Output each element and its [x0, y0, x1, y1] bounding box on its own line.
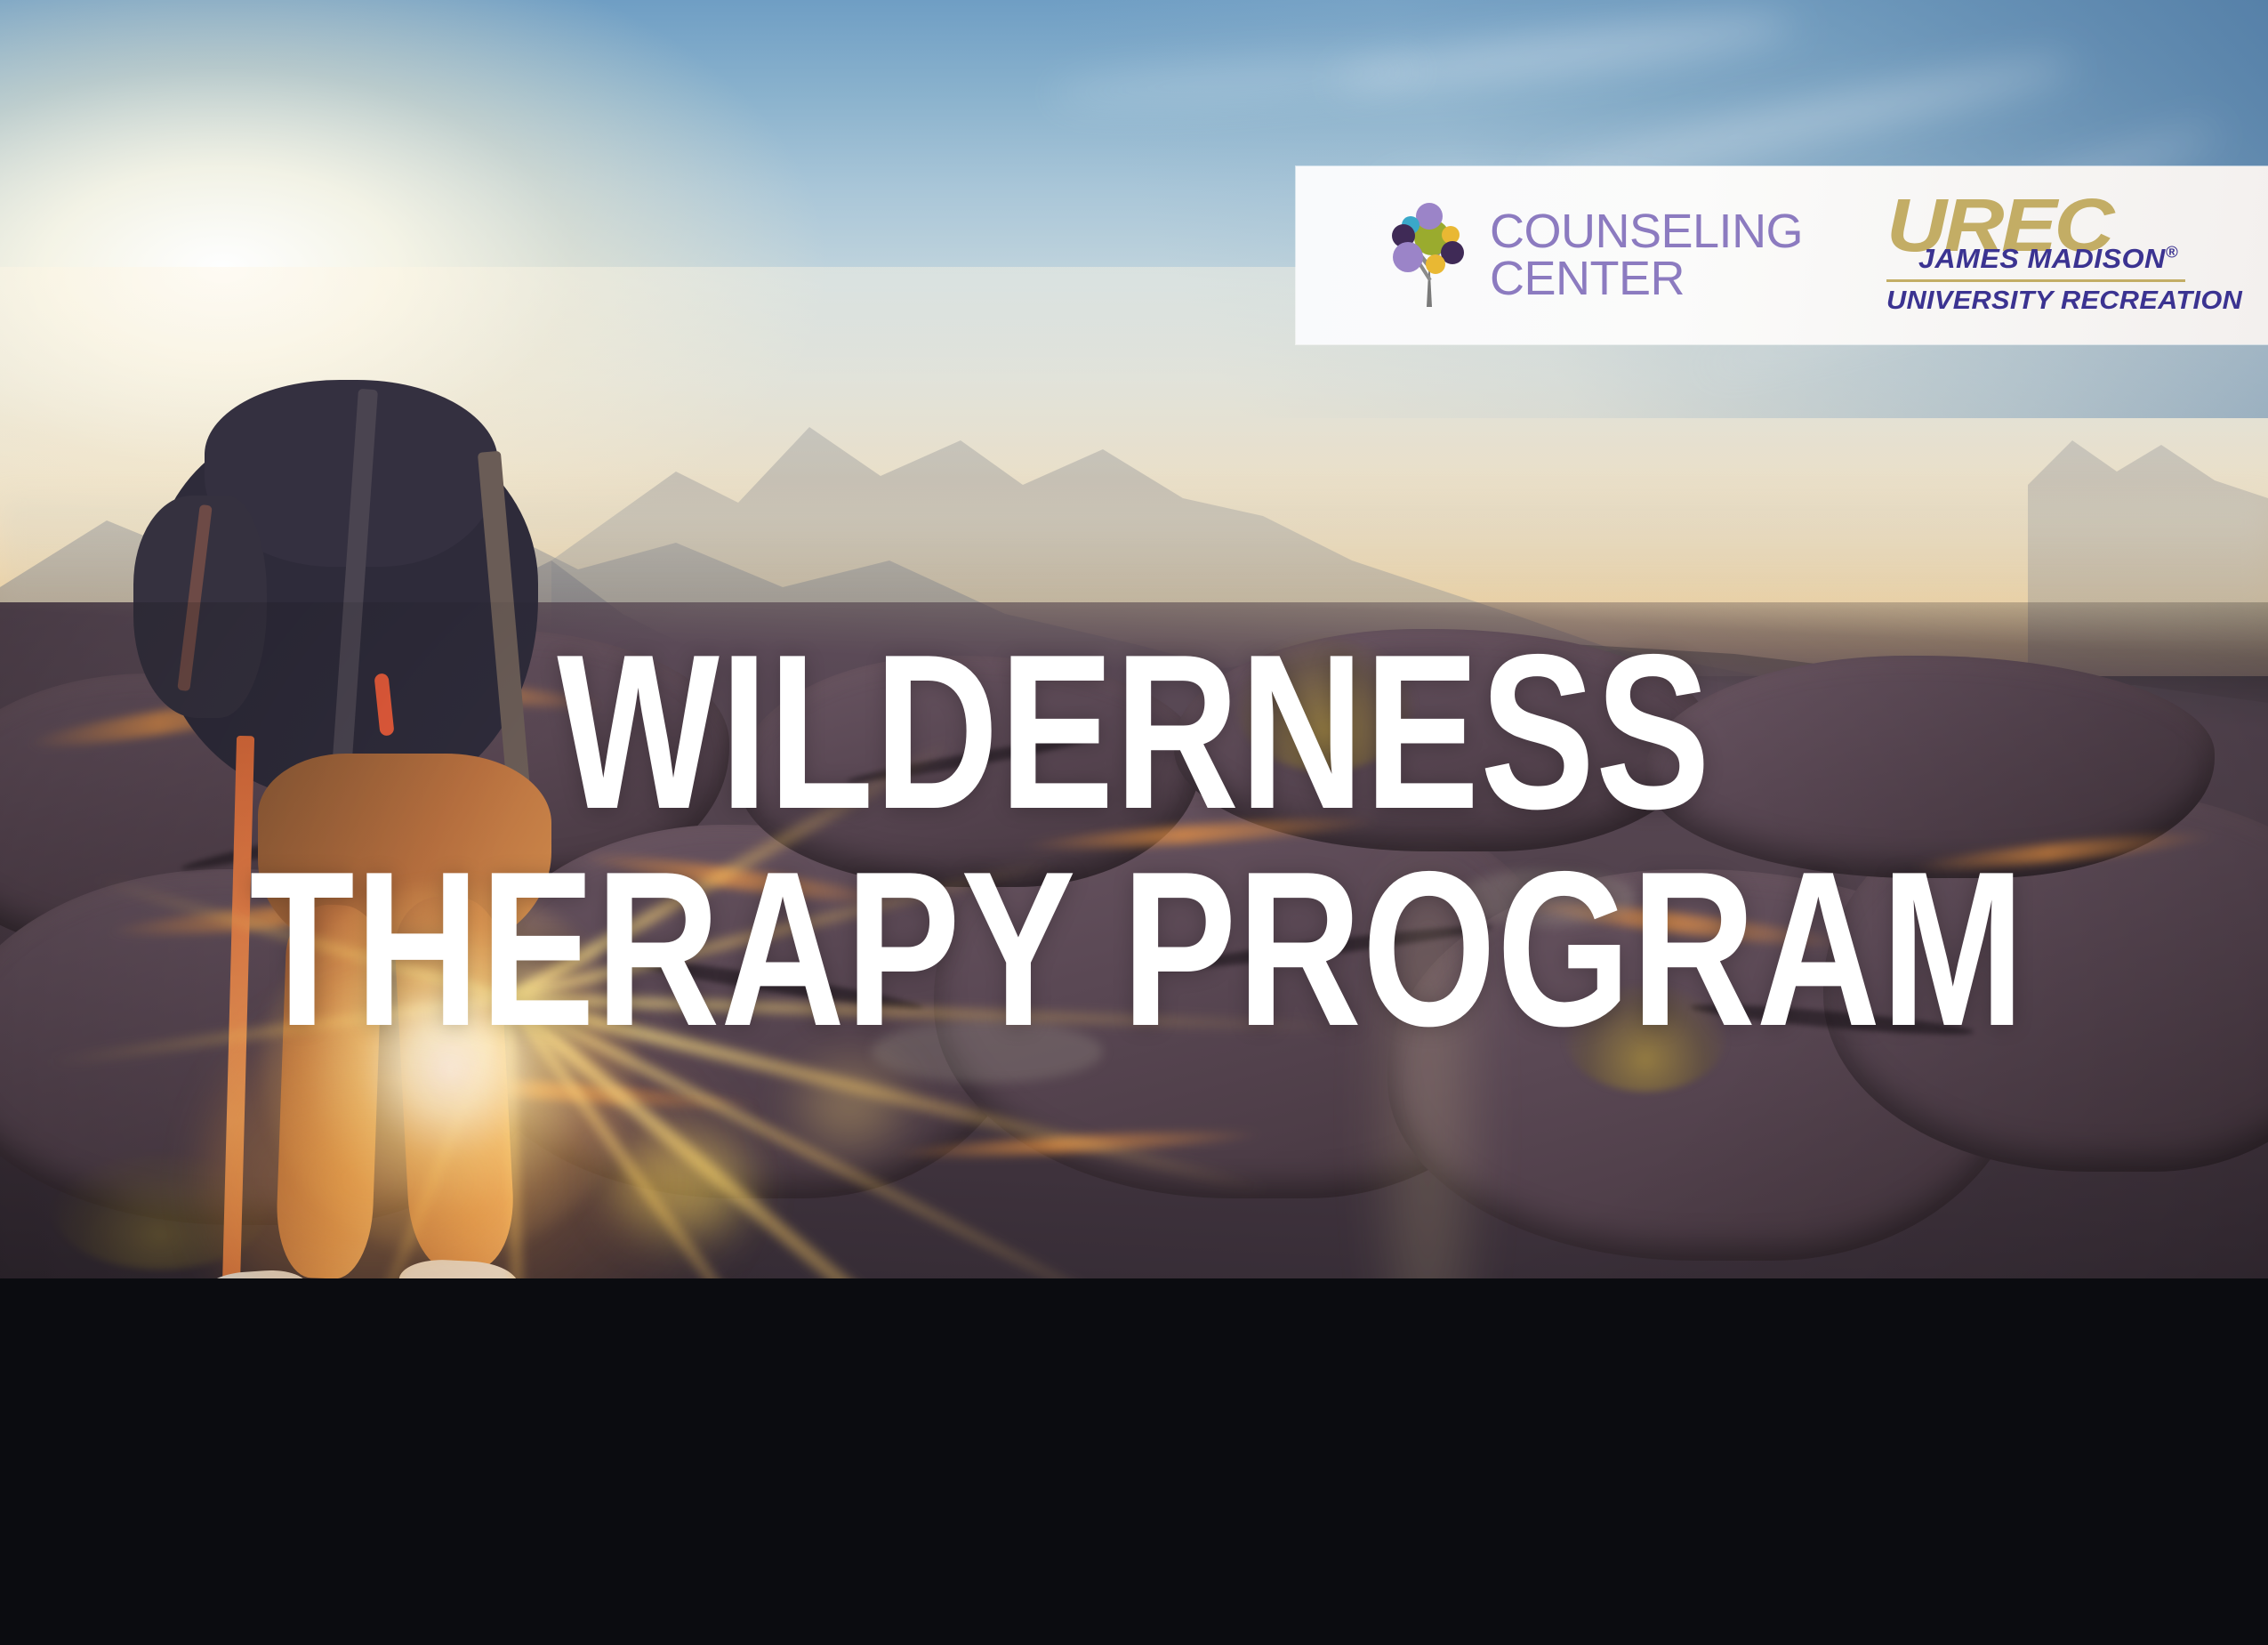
urec-department: UNIVERSITY RECREATION — [1886, 286, 2242, 316]
counseling-center-logo: COUNSELING CENTER — [1390, 202, 1803, 309]
urec-institution-text: JAMES MADISON — [1918, 243, 2166, 274]
vegetation-patch — [1236, 638, 1414, 771]
urec-logo: UREC JAMES MADISON® UNIVERSITY RECREATIO… — [1886, 195, 2222, 317]
rock-lichen — [1459, 869, 1637, 926]
hero-photo: COUNSELING CENTER UREC JAMES MADISON® UN… — [0, 0, 2268, 1278]
rock-foreground — [0, 602, 2268, 1278]
boulder — [738, 656, 1201, 887]
registered-trademark-icon: ® — [2166, 244, 2178, 262]
cc-line-2: CENTER — [1490, 255, 1803, 302]
urec-institution: JAMES MADISON® — [1918, 243, 2178, 275]
tree-icon — [1390, 202, 1476, 309]
logo-bar: COUNSELING CENTER UREC JAMES MADISON® UN… — [1296, 166, 2268, 344]
urec-divider-rule — [1886, 279, 2185, 282]
wilderness-therapy-poster: COUNSELING CENTER UREC JAMES MADISON® UN… — [0, 0, 2268, 1645]
cc-line-1: COUNSELING — [1490, 208, 1803, 255]
lens-flare-blob — [800, 1065, 898, 1145]
rock-lichen — [872, 1020, 1103, 1083]
counseling-center-text: COUNSELING CENTER — [1490, 208, 1803, 303]
vegetation-patch — [1565, 985, 1725, 1092]
